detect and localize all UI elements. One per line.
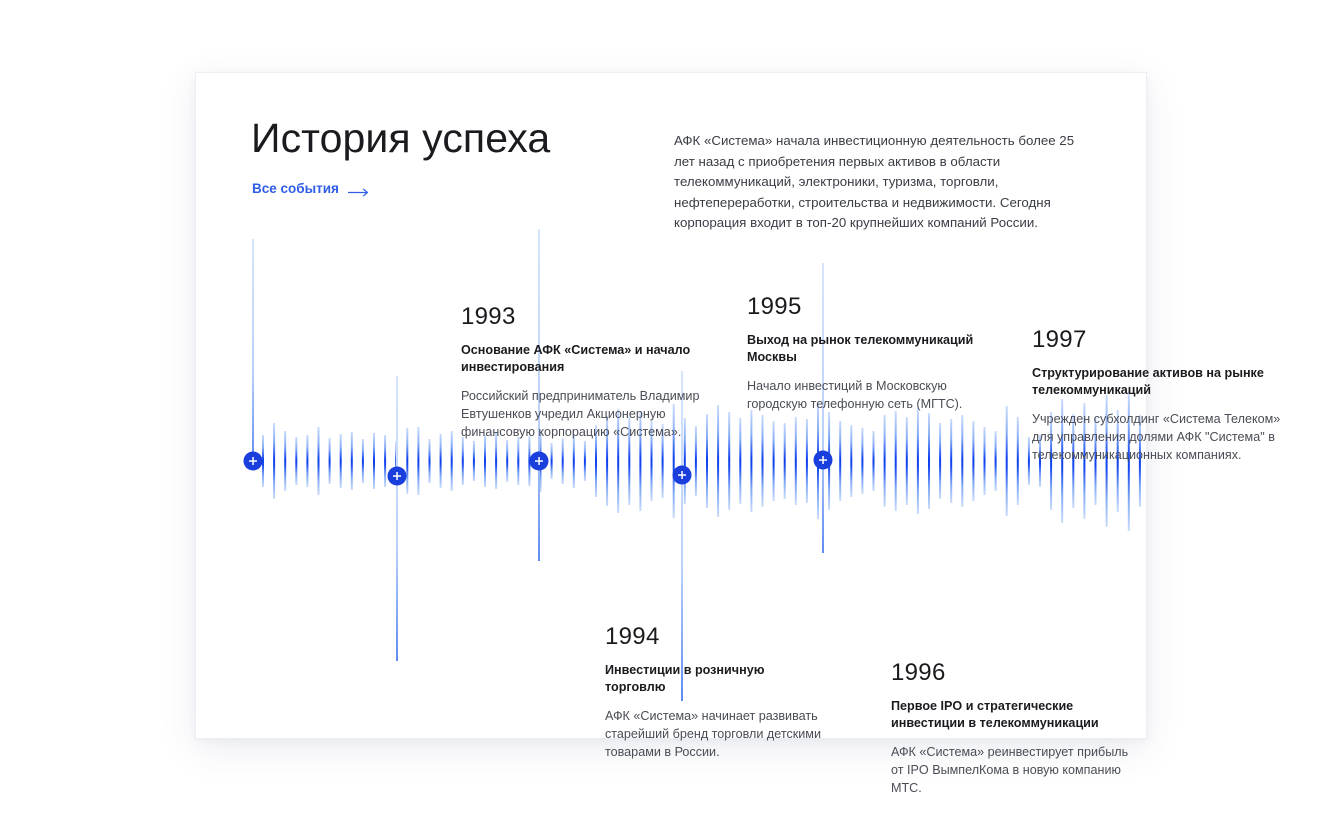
- waveform-bar: [462, 437, 464, 485]
- event-year: 1997: [1032, 328, 1284, 352]
- waveform-bar: [573, 434, 575, 488]
- waveform-bar: [273, 423, 275, 499]
- timeline-connector-line: [396, 376, 398, 661]
- waveform-bar: [895, 411, 897, 511]
- waveform-bar: [373, 433, 375, 489]
- timeline-marker-1994[interactable]: [388, 467, 407, 486]
- event-headline: Первое IPO и стратегические инвестиции в…: [891, 698, 1141, 732]
- waveform-bar: [717, 405, 719, 517]
- waveform-bar: [351, 432, 353, 490]
- waveform-bar: [417, 427, 419, 495]
- waveform-bar: [950, 419, 952, 503]
- waveform-bar: [939, 423, 941, 499]
- event-body: Начало инвестиций в Московскую городскую…: [747, 377, 999, 413]
- all-events-label: Все события: [252, 181, 339, 196]
- waveform-bar: [750, 410, 752, 512]
- arrow-right-icon: [348, 185, 370, 194]
- event-year: 1994: [605, 625, 823, 649]
- waveform-bar: [1017, 417, 1019, 505]
- waveform-bar: [384, 435, 386, 487]
- waveform-bar: [306, 435, 308, 487]
- waveform-bar: [806, 419, 808, 503]
- event-1997[interactable]: 1997 Структурирование активов на рынке т…: [1032, 328, 1284, 464]
- waveform-bar: [584, 441, 586, 481]
- event-body: АФК «Система» начинает развивать старейш…: [605, 707, 823, 761]
- event-body: АФК «Система» реинвестирует прибыль от I…: [891, 743, 1141, 797]
- timeline-marker-1993[interactable]: [244, 452, 263, 471]
- waveform-bar: [795, 417, 797, 505]
- waveform-bar: [406, 428, 408, 494]
- waveform-bar: [873, 431, 875, 491]
- waveform-bar: [484, 435, 486, 487]
- event-headline: Основание АФК «Система» и начало инвести…: [461, 342, 707, 376]
- waveform-bar: [517, 437, 519, 485]
- waveform-bar: [884, 415, 886, 507]
- waveform-bar: [839, 421, 841, 501]
- waveform-bar: [917, 408, 919, 514]
- waveform-bar: [429, 439, 431, 483]
- waveform-bar: [473, 441, 475, 481]
- event-headline: Структурирование активов на рынке телеко…: [1032, 365, 1284, 399]
- plus-icon: [252, 457, 254, 465]
- waveform-bar: [961, 415, 963, 507]
- page-title: История успеха: [251, 115, 550, 162]
- timeline-marker-1995[interactable]: [530, 452, 549, 471]
- waveform-bar: [928, 413, 930, 509]
- waveform-bar: [451, 431, 453, 491]
- event-headline: Выход на рынок телекоммуникаций Москвы: [747, 332, 999, 366]
- timeline-markers: [244, 451, 833, 486]
- waveform-bar: [784, 423, 786, 499]
- waveform-bar: [984, 427, 986, 495]
- history-card: История успеха Все события АФК «Система»…: [195, 72, 1147, 739]
- event-year: 1993: [461, 305, 707, 329]
- waveform-bar: [739, 418, 741, 504]
- page-root: История успеха Все события АФК «Система»…: [0, 0, 1340, 820]
- waveform-bar: [1006, 406, 1008, 516]
- event-1995[interactable]: 1995 Выход на рынок телекоммуникаций Мос…: [747, 295, 999, 413]
- waveform-bar: [295, 437, 297, 485]
- waveform-bar: [972, 421, 974, 501]
- plus-icon: [681, 471, 683, 479]
- waveform-bar: [773, 421, 775, 501]
- event-body: Российский предприниматель Владимир Евту…: [461, 387, 707, 441]
- timeline-marker-1996[interactable]: [673, 466, 692, 485]
- event-year: 1996: [891, 661, 1141, 685]
- waveform-bar: [495, 433, 497, 489]
- waveform-bar: [562, 438, 564, 484]
- event-1994[interactable]: 1994 Инвестиции в розничную торговлю АФК…: [605, 625, 823, 761]
- waveform-bar: [506, 440, 508, 482]
- event-1996[interactable]: 1996 Первое IPO и стратегические инвести…: [891, 661, 1141, 797]
- waveform-bar: [551, 443, 553, 479]
- waveform-bar: [728, 412, 730, 510]
- waveform-bar: [861, 428, 863, 494]
- event-body: Учрежден субхолдинг «Система Телеком» дл…: [1032, 410, 1284, 464]
- timeline-marker-1997[interactable]: [814, 451, 833, 470]
- plus-icon: [538, 457, 540, 465]
- waveform-bar: [318, 427, 320, 495]
- timeline-connector-line: [252, 239, 254, 461]
- intro-text: АФК «Система» начала инвестиционную деят…: [674, 131, 1094, 234]
- waveform-bar: [1028, 437, 1030, 485]
- event-1993[interactable]: 1993 Основание АФК «Система» и начало ин…: [461, 305, 707, 441]
- event-headline: Инвестиции в розничную торговлю: [605, 662, 823, 696]
- waveform-bar: [762, 415, 764, 507]
- plus-icon: [822, 456, 824, 464]
- waveform-bar: [995, 431, 997, 491]
- waveform-bar: [440, 434, 442, 488]
- event-year: 1995: [747, 295, 999, 319]
- intro-paragraph: АФК «Система» начала инвестиционную деят…: [674, 131, 1094, 234]
- waveform-bar: [362, 439, 364, 483]
- waveform-bar: [284, 431, 286, 491]
- plus-icon: [396, 472, 398, 480]
- waveform-bar: [850, 425, 852, 497]
- waveform-bar: [340, 434, 342, 488]
- waveform-bar: [906, 417, 908, 505]
- waveform-bar: [329, 438, 331, 484]
- all-events-link[interactable]: Все события: [252, 181, 370, 196]
